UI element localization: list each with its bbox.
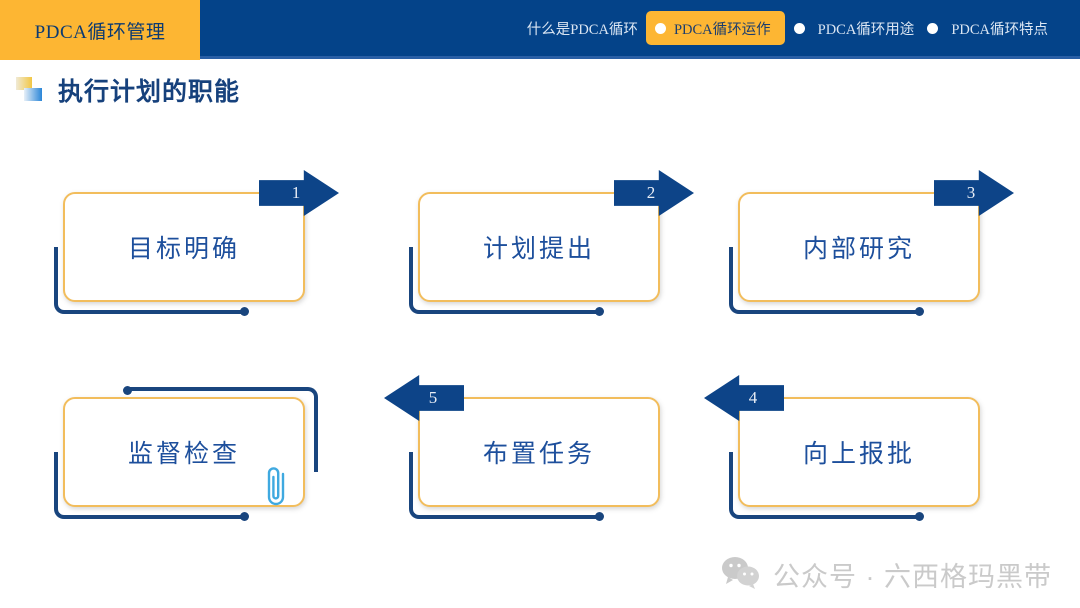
page-title: 执行计划的职能 [58, 72, 240, 108]
arrow-right-icon-3: 3 [934, 170, 1014, 216]
nav-dot-icon [927, 23, 938, 34]
square-blue-icon [24, 88, 42, 101]
process-card-2[interactable]: 计划提出 2 [418, 192, 660, 302]
card-number: 3 [956, 170, 986, 216]
brand-title: PDCA循环管理 [35, 17, 166, 44]
process-card-3[interactable]: 内部研究 3 [738, 192, 980, 302]
process-card-6[interactable]: 向上报批 4 [738, 397, 980, 507]
arrow-right-icon-2: 2 [614, 170, 694, 216]
process-card-4[interactable]: 监督检查 [63, 397, 305, 507]
card-number: 5 [418, 375, 448, 421]
arrow-left-icon-5: 5 [384, 375, 464, 421]
watermark: 公众号 · 六西格玛黑带 [721, 555, 1052, 594]
bracket-dot-icon [915, 307, 924, 316]
bracket-dot-icon [123, 386, 132, 395]
card-number: 4 [738, 375, 768, 421]
nav-label: PDCA循环特点 [945, 18, 1054, 39]
nav-item-pdca-usage[interactable]: PDCA循环用途 [787, 0, 921, 56]
process-card-1[interactable]: 目标明确 1 [63, 192, 305, 302]
bracket-dot-icon [240, 512, 249, 521]
card-number: 2 [636, 170, 666, 216]
bracket-dot-icon [915, 512, 924, 521]
top-nav: 什么是PDCA循环 PDCA循环运作 PDCA循环用途 PDCA循环特点 [521, 0, 1054, 56]
brand-block: PDCA循环管理 [0, 0, 200, 60]
nav-item-pdca-operation[interactable]: PDCA循环运作 [646, 11, 785, 45]
paperclip-icon [261, 465, 291, 509]
card-number: 1 [281, 170, 311, 216]
nav-item-pdca-features[interactable]: PDCA循环特点 [920, 0, 1054, 56]
nav-dot-icon [794, 23, 805, 34]
arrow-left-icon-4: 4 [704, 375, 784, 421]
nav-label: PDCA循环用途 [812, 18, 921, 39]
bracket-dot-icon [595, 512, 604, 521]
watermark-text: 公众号 · 六西格玛黑带 [773, 555, 1052, 594]
nav-label: 什么是PDCA循环 [521, 18, 644, 39]
nav-dot-icon [655, 23, 666, 34]
nav-label: PDCA循环运作 [674, 18, 775, 39]
process-card-5[interactable]: 布置任务 5 [418, 397, 660, 507]
gradient-squares-icon [16, 77, 46, 103]
section-title-row: 执行计划的职能 [16, 72, 240, 108]
slide-canvas: PDCA循环管理 什么是PDCA循环 PDCA循环运作 PDCA循环用途 PDC… [0, 0, 1080, 608]
wechat-icon [721, 555, 761, 594]
arrow-right-icon-1: 1 [259, 170, 339, 216]
nav-item-what-is-pdca[interactable]: 什么是PDCA循环 [521, 0, 644, 56]
bracket-dot-icon [240, 307, 249, 316]
bracket-dot-icon [595, 307, 604, 316]
